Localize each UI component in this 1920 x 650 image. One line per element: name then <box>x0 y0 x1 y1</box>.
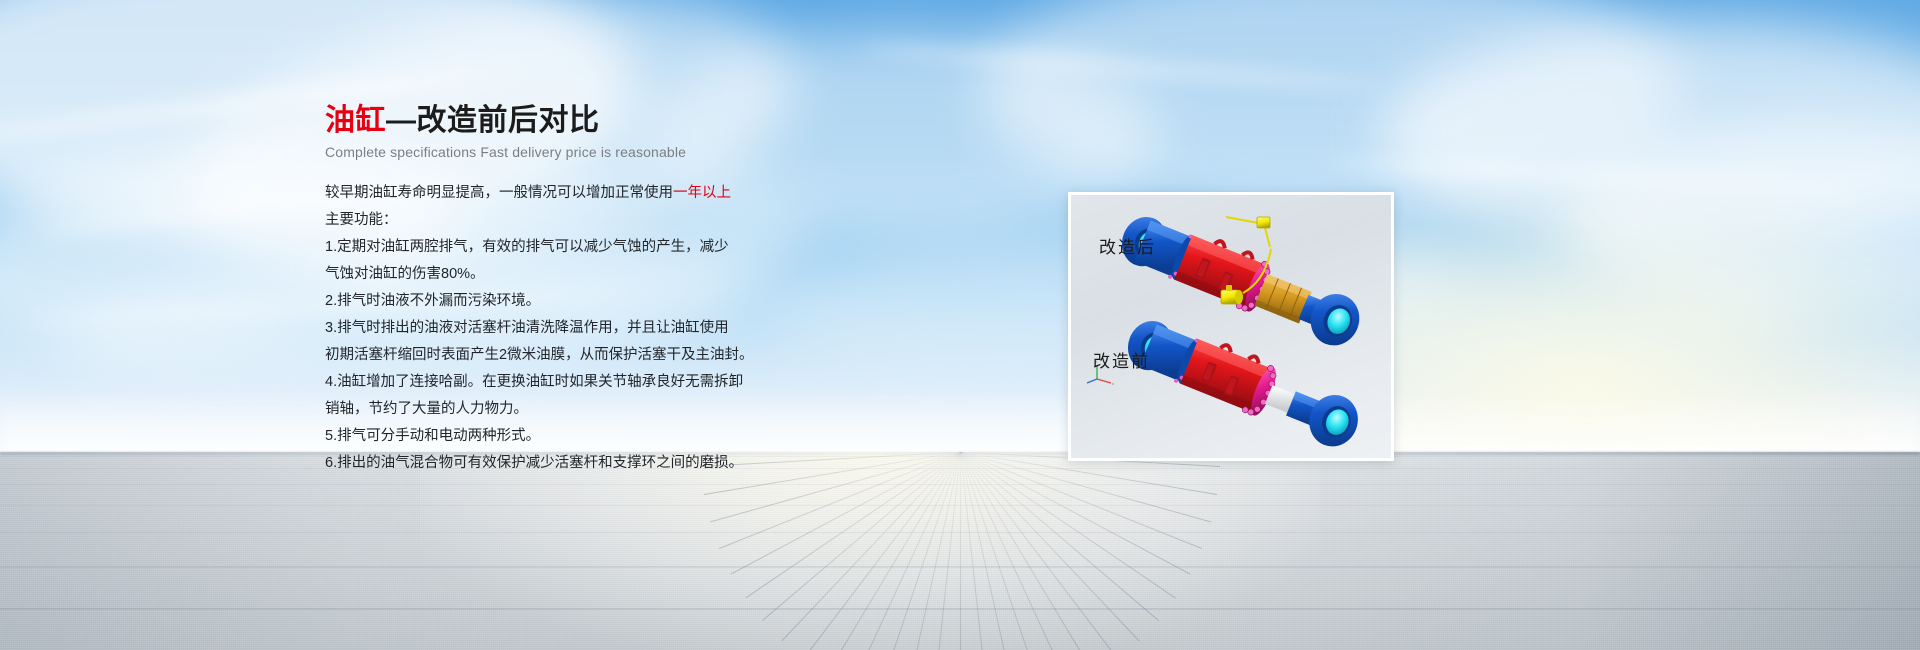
feature-line-highlight: 一年以上 <box>673 185 731 201</box>
ground-texture-grain <box>0 452 1920 650</box>
feature-line: 6.排出的油气混合物可有效保护减少活塞杆和支撑环之间的磨损。 <box>325 450 755 477</box>
feature-line-text: 2.排气时油液不外漏而污染环境。 <box>325 293 540 309</box>
feature-line-text: 气蚀对油缸的伤害80%。 <box>325 266 485 282</box>
feature-line-text: 5.排气可分手动和电动两种形式。 <box>325 428 540 444</box>
feature-line: 5.排气可分手动和电动两种形式。 <box>325 423 755 450</box>
feature-line: 3.排气时排出的油液对活塞杆油清洗降温作用，并且让油缸使用 <box>325 315 755 342</box>
page-title-highlight: 油缸 <box>325 104 386 137</box>
feature-line: 销轴，节约了大量的人力物力。 <box>325 396 755 423</box>
feature-line-text: 主要功能： <box>325 212 398 228</box>
page-title-rest: —改造前后对比 <box>386 104 600 137</box>
label-before-modification: 改造前 <box>1093 347 1150 372</box>
plaza-ground <box>0 452 1920 650</box>
feature-line: 4.油缸增加了连接哈副。在更换油缸时如果关节轴承良好无需拆卸 <box>325 369 755 396</box>
feature-line: 初期活塞杆缩回时表面产生2微米油膜，从而保护活塞干及主油封。 <box>325 342 755 369</box>
cad-comparison-panel: z x 改造后 改造前 <box>1068 192 1394 461</box>
svg-text:x: x <box>1112 381 1114 386</box>
label-after-modification: 改造后 <box>1099 233 1156 258</box>
feature-line: 2.排气时油液不外漏而污染环境。 <box>325 288 755 315</box>
feature-list: 较早期油缸寿命明显提高，一般情况可以增加正常使用一年以上主要功能：1.定期对油缸… <box>325 180 755 477</box>
feature-line: 气蚀对油缸的伤害80%。 <box>325 261 755 288</box>
feature-line-text: 1.定期对油缸两腔排气，有效的排气可以减少气蚀的产生，减少 <box>325 239 729 255</box>
sky-background <box>0 0 1920 470</box>
feature-line: 1.定期对油缸两腔排气，有效的排气可以减少气蚀的产生，减少 <box>325 234 755 261</box>
page-subtitle: Complete specifications Fast delivery pr… <box>325 144 755 160</box>
feature-line: 较早期油缸寿命明显提高，一般情况可以增加正常使用一年以上 <box>325 180 755 207</box>
horizon-line <box>0 452 1920 455</box>
page-title: 油缸—改造前后对比 <box>325 104 755 137</box>
promo-banner: 油缸—改造前后对比 Complete specifications Fast d… <box>0 0 1920 650</box>
feature-line-text: 4.油缸增加了连接哈副。在更换油缸时如果关节轴承良好无需拆卸 <box>325 374 743 390</box>
text-column: 油缸—改造前后对比 Complete specifications Fast d… <box>325 104 755 477</box>
feature-line: 主要功能： <box>325 207 755 234</box>
feature-line-text: 初期活塞杆缩回时表面产生2微米油膜，从而保护活塞干及主油封。 <box>325 347 754 363</box>
feature-line-text: 较早期油缸寿命明显提高，一般情况可以增加正常使用 <box>325 185 673 201</box>
feature-line-text: 6.排出的油气混合物可有效保护减少活塞杆和支撑环之间的磨损。 <box>325 455 743 471</box>
feature-line-text: 3.排气时排出的油液对活塞杆油清洗降温作用，并且让油缸使用 <box>325 320 729 336</box>
feature-line-text: 销轴，节约了大量的人力物力。 <box>325 401 528 417</box>
